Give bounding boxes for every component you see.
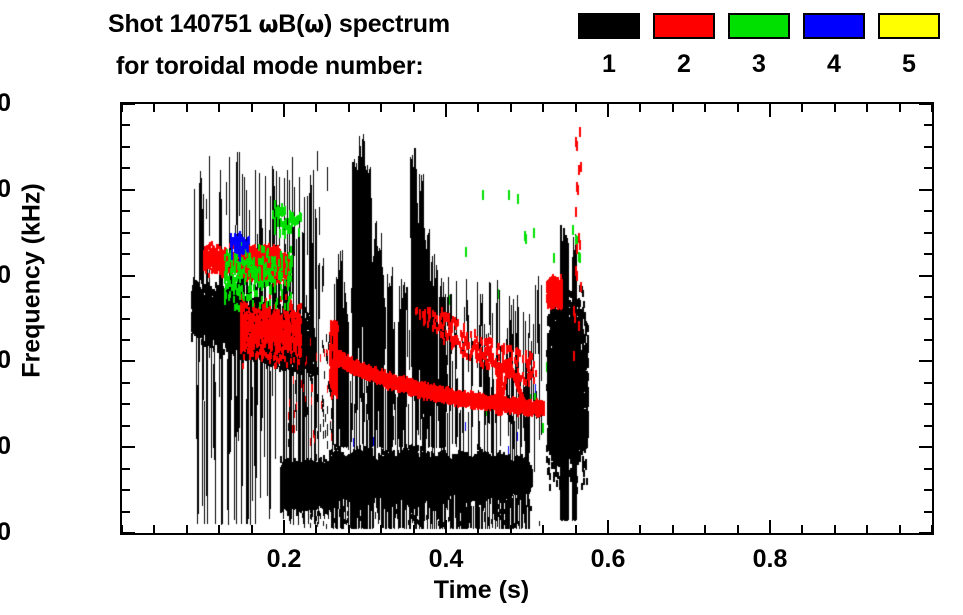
y-tick-major — [122, 532, 135, 534]
x-tick-minor — [931, 525, 933, 533]
y-tick-minor — [122, 210, 130, 212]
y-tick-major — [122, 275, 135, 277]
y-tick-major — [919, 360, 932, 362]
title-mid: B( — [278, 10, 304, 38]
x-tick-minor — [186, 104, 188, 112]
x-tick-minor — [218, 525, 220, 533]
x-tick-minor — [315, 525, 317, 533]
legend-entry-n-3: 3 — [728, 13, 790, 77]
y-tick-minor — [924, 382, 932, 384]
x-tick-minor — [931, 104, 933, 112]
x-tick-minor — [639, 104, 641, 112]
x-tick-major — [607, 520, 609, 533]
y-tick-minor — [122, 296, 130, 298]
x-tick-minor — [866, 525, 868, 533]
legend-label-1: 1 — [578, 51, 640, 77]
y-tick-major — [919, 275, 932, 277]
y-tick-minor — [122, 425, 130, 427]
y-tick-minor — [924, 124, 932, 126]
x-axis-label: Time (s) — [0, 576, 963, 605]
x-tick-minor — [510, 104, 512, 112]
y-axis-label-wrapper: Frequency (kHz) — [0, 0, 1, 1]
legend-label-3: 3 — [728, 51, 790, 77]
legend-entry-n-2: 2 — [653, 13, 715, 77]
omega-symbol-1: ω — [258, 12, 278, 38]
y-tick-minor — [122, 403, 130, 405]
x-tick-minor — [153, 525, 155, 533]
y-tick-major — [919, 189, 932, 191]
legend-entry-n-1: 1 — [578, 13, 640, 77]
y-tick-major — [919, 446, 932, 448]
x-tick-minor — [380, 525, 382, 533]
y-tick-minor — [122, 146, 130, 148]
spectrogram-canvas — [122, 104, 932, 533]
y-tick-minor — [924, 232, 932, 234]
y-tick-label: 0 — [0, 520, 11, 545]
legend-swatch-5 — [878, 13, 940, 39]
x-tick-minor — [121, 525, 123, 533]
x-tick-minor — [121, 104, 123, 112]
x-tick-minor — [218, 104, 220, 112]
legend-label-5: 5 — [878, 51, 940, 77]
x-tick-minor — [348, 104, 350, 112]
x-tick-minor — [477, 525, 479, 533]
x-tick-minor — [704, 104, 706, 112]
y-tick-label: 100 — [0, 91, 11, 116]
legend-label-4: 4 — [803, 51, 865, 77]
x-tick-minor — [834, 525, 836, 533]
y-tick-minor — [924, 146, 932, 148]
x-tick-major — [445, 520, 447, 533]
x-tick-minor — [153, 104, 155, 112]
legend-swatch-1 — [578, 13, 640, 39]
y-tick-minor — [122, 511, 130, 513]
figure-title-line-2: for toroidal mode number: — [116, 52, 424, 81]
y-tick-minor — [924, 489, 932, 491]
x-tick-minor — [477, 104, 479, 112]
y-tick-minor — [924, 403, 932, 405]
y-tick-major — [122, 446, 135, 448]
y-tick-minor — [924, 318, 932, 320]
x-tick-label: 0.8 — [725, 547, 815, 572]
y-tick-minor — [122, 253, 130, 255]
x-tick-minor — [737, 525, 739, 533]
x-tick-major — [445, 104, 447, 117]
y-tick-label: 60 — [0, 263, 11, 288]
figure-title-line-1: Shot 140751 ωB(ω) spectrum — [108, 10, 450, 39]
x-tick-minor — [251, 104, 253, 112]
x-tick-minor — [639, 525, 641, 533]
x-tick-minor — [186, 525, 188, 533]
x-tick-minor — [315, 104, 317, 112]
y-tick-minor — [924, 468, 932, 470]
x-tick-label: 0.4 — [401, 547, 491, 572]
x-tick-major — [769, 104, 771, 117]
y-tick-minor — [122, 339, 130, 341]
legend-swatch-4 — [803, 13, 865, 39]
y-tick-minor — [122, 232, 130, 234]
x-tick-label: 0.2 — [239, 547, 329, 572]
x-tick-minor — [899, 104, 901, 112]
y-tick-major — [122, 360, 135, 362]
x-tick-label: 0.6 — [563, 547, 653, 572]
x-tick-major — [283, 520, 285, 533]
y-tick-minor — [924, 511, 932, 513]
y-tick-minor — [924, 425, 932, 427]
y-tick-minor — [924, 210, 932, 212]
title-suffix: ) spectrum — [324, 10, 450, 38]
y-tick-label: 80 — [0, 177, 11, 202]
y-tick-minor — [122, 167, 130, 169]
y-tick-minor — [122, 468, 130, 470]
x-tick-minor — [510, 525, 512, 533]
y-tick-minor — [924, 167, 932, 169]
spectrogram-figure: Shot 140751 ωB(ω) spectrum for toroidal … — [0, 0, 963, 615]
x-tick-minor — [575, 525, 577, 533]
x-tick-major — [283, 104, 285, 117]
omega-symbol-2: ω — [304, 12, 324, 38]
y-tick-minor — [924, 296, 932, 298]
y-tick-minor — [924, 339, 932, 341]
x-tick-minor — [899, 525, 901, 533]
x-tick-minor — [801, 104, 803, 112]
x-tick-minor — [542, 104, 544, 112]
x-tick-minor — [413, 104, 415, 112]
plot-area — [120, 102, 934, 535]
x-tick-minor — [542, 525, 544, 533]
x-tick-minor — [348, 525, 350, 533]
x-tick-minor — [866, 104, 868, 112]
x-tick-minor — [413, 525, 415, 533]
y-tick-minor — [924, 253, 932, 255]
title-prefix: Shot 140751 — [108, 10, 258, 38]
x-tick-major — [607, 104, 609, 117]
x-tick-minor — [672, 104, 674, 112]
x-tick-minor — [380, 104, 382, 112]
x-tick-minor — [251, 525, 253, 533]
x-tick-minor — [737, 104, 739, 112]
legend: 12345 — [578, 13, 950, 83]
y-tick-major — [122, 189, 135, 191]
y-tick-major — [122, 103, 135, 105]
x-tick-minor — [704, 525, 706, 533]
legend-entry-n-4: 4 — [803, 13, 865, 77]
y-tick-minor — [122, 489, 130, 491]
legend-swatch-3 — [728, 13, 790, 39]
y-axis-label: Frequency (kHz) — [18, 81, 47, 481]
y-tick-minor — [122, 318, 130, 320]
y-tick-minor — [122, 124, 130, 126]
x-tick-minor — [801, 525, 803, 533]
x-tick-minor — [834, 104, 836, 112]
x-tick-minor — [575, 104, 577, 112]
legend-label-2: 2 — [653, 51, 715, 77]
x-tick-major — [769, 520, 771, 533]
y-tick-label: 40 — [0, 348, 11, 373]
y-tick-minor — [122, 382, 130, 384]
x-tick-minor — [672, 525, 674, 533]
legend-swatch-2 — [653, 13, 715, 39]
y-tick-label: 20 — [0, 434, 11, 459]
legend-entry-n-5: 5 — [878, 13, 940, 77]
